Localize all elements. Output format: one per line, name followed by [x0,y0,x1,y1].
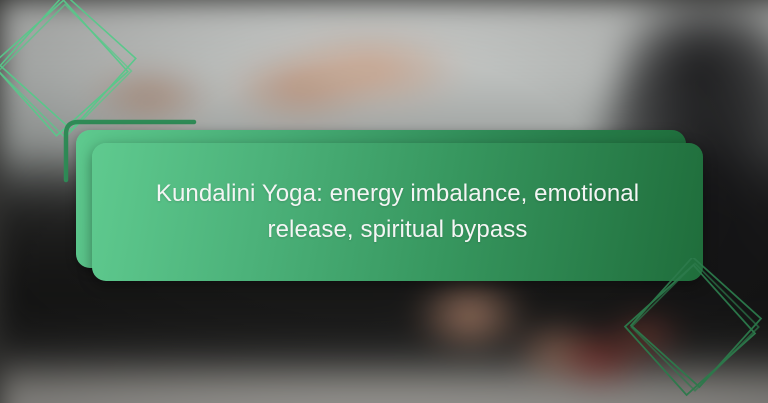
hero-card: Kundalini Yoga: energy imbalance, emotio… [92,143,703,281]
hero-banner: Kundalini Yoga: energy imbalance, emotio… [0,0,768,403]
page-title: Kundalini Yoga: energy imbalance, emotio… [114,176,682,249]
